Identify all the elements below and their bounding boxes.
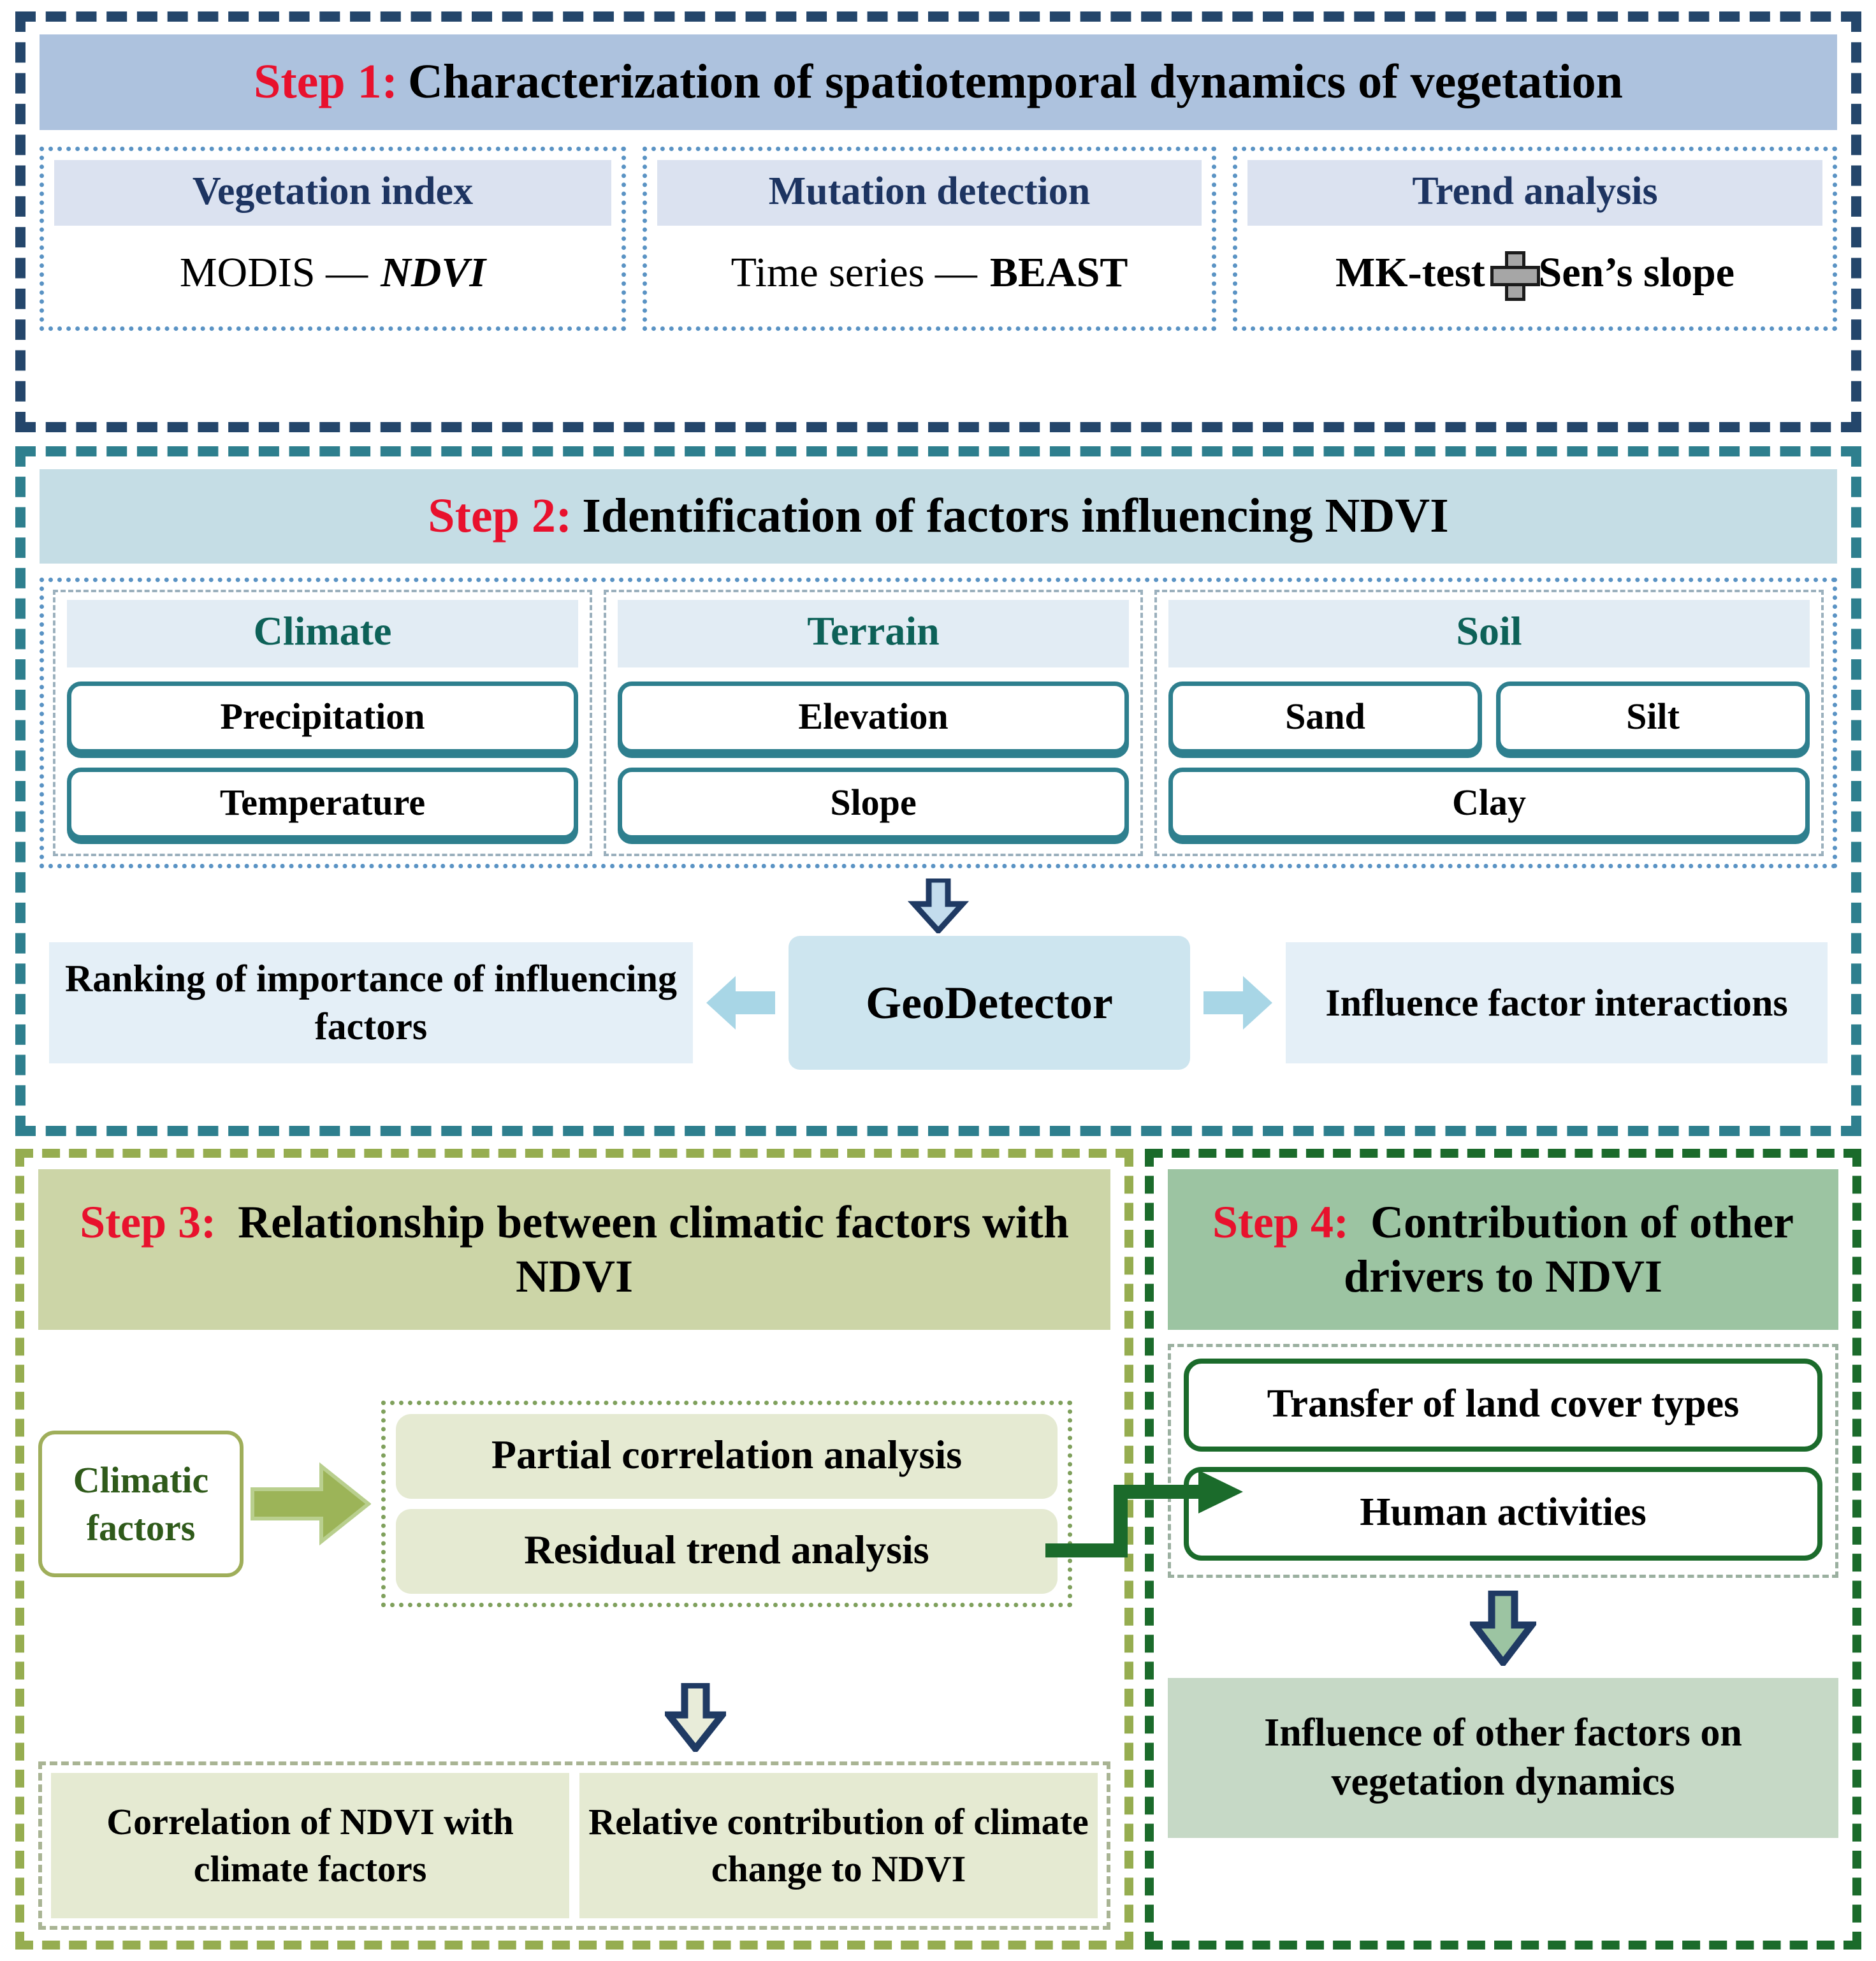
- step-3-method-row: Climatic factors Partial correlation ana…: [38, 1341, 1110, 1666]
- vegetation-index-prefix: MODIS —: [180, 249, 368, 297]
- step-1-column-trend-analysis: Trend analysis MK-test Sen’s slope: [1233, 147, 1837, 331]
- down-arrow-icon-to-geodetector: [908, 878, 969, 933]
- soil-row-2: Clay: [1168, 754, 1810, 840]
- ranking-of-importance-box: Ranking of importance of influencing fac…: [49, 942, 693, 1063]
- trend-analysis-body: MK-test Sen’s slope: [1247, 226, 1822, 315]
- step-1-panel: Step 1: Characterization of spatiotempor…: [15, 11, 1861, 432]
- right-arrow-icon: [1190, 965, 1286, 1041]
- step-2-label: Step 2:: [428, 489, 572, 543]
- step-1-title: Characterization of spatiotemporal dynam…: [408, 55, 1623, 109]
- step-2-title: Identification of factors influencing ND…: [582, 489, 1449, 543]
- step-4-down-arrow-wrap: [1168, 1591, 1838, 1669]
- vegetation-index-header: Vegetation index: [54, 160, 611, 226]
- step-1-column-mutation-detection: Mutation detection Time series — BEAST: [643, 147, 1216, 331]
- terrain-header: Terrain: [618, 600, 1129, 667]
- method-partial-correlation-analysis[interactable]: Partial correlation analysis: [396, 1414, 1058, 1499]
- factor-silt[interactable]: Silt: [1496, 682, 1810, 754]
- climate-row-2: Temperature: [67, 754, 578, 840]
- trend-analysis-header: Trend analysis: [1247, 160, 1822, 226]
- soil-header: Soil: [1168, 600, 1810, 667]
- climate-header: Climate: [67, 600, 578, 667]
- vegetation-index-emphasis: NDVI: [381, 249, 486, 297]
- terrain-row-1: Elevation: [618, 667, 1129, 754]
- result-influence-other-factors: Influence of other factors on vegetation…: [1168, 1678, 1838, 1838]
- factor-elevation[interactable]: Elevation: [618, 682, 1129, 754]
- geodetector-row: Ranking of importance of influencing fac…: [40, 936, 1837, 1070]
- factor-clay[interactable]: Clay: [1168, 768, 1810, 840]
- right-arrow-icon-climatic: [244, 1456, 377, 1552]
- step-1-label: Step 1:: [254, 55, 398, 109]
- down-arrow-icon-step3: [665, 1683, 726, 1755]
- result-relative-contribution-climate: Relative contribution of climate change …: [579, 1773, 1098, 1918]
- factor-temperature[interactable]: Temperature: [67, 768, 578, 840]
- step-1-column-vegetation-index: Vegetation index MODIS — NDVI: [40, 147, 626, 331]
- result-correlation-ndvi-climate: Correlation of NDVI with climate factors: [51, 1773, 569, 1918]
- plus-icon: [1494, 255, 1530, 291]
- factor-precipitation[interactable]: Precipitation: [67, 682, 578, 754]
- step-3-results-group: Correlation of NDVI with climate factors…: [38, 1761, 1110, 1930]
- step-4-panel: Step 4: Contribution of other drivers to…: [1145, 1149, 1861, 1950]
- left-arrow-icon: [693, 965, 789, 1041]
- mutation-detection-prefix: Time series —: [731, 249, 977, 297]
- factor-slope[interactable]: Slope: [618, 768, 1129, 840]
- climate-row-1: Precipitation: [67, 667, 578, 754]
- influence-factor-interactions-box: Influence factor interactions: [1286, 942, 1828, 1063]
- step-4-banner: Step 4: Contribution of other drivers to…: [1168, 1169, 1838, 1330]
- factor-group-climate: Climate Precipitation Temperature: [53, 590, 592, 856]
- down-arrow-icon-step4: [1470, 1591, 1536, 1669]
- geodetector-box[interactable]: GeoDetector: [789, 936, 1190, 1070]
- step-4-drivers-group: Transfer of land cover types Human activ…: [1168, 1344, 1838, 1578]
- climatic-factors-box[interactable]: Climatic factors: [38, 1431, 244, 1578]
- step-3-title: Relationship between climatic factors wi…: [238, 1197, 1069, 1302]
- step-1-columns: Vegetation index MODIS — NDVI Mutation d…: [40, 147, 1837, 331]
- step-3-panel: Step 3: Relationship between climatic fa…: [15, 1149, 1133, 1950]
- trend-analysis-prefix: MK-test: [1335, 249, 1485, 297]
- terrain-row-2: Slope: [618, 754, 1129, 840]
- step-2-banner: Step 2: Identification of factors influe…: [40, 469, 1837, 564]
- vegetation-index-body: MODIS — NDVI: [54, 226, 611, 315]
- step-2-panel: Step 2: Identification of factors influe…: [15, 446, 1861, 1136]
- method-residual-trend-analysis[interactable]: Residual trend analysis: [396, 1509, 1058, 1594]
- factor-group-soil: Soil Sand Silt Clay: [1154, 590, 1824, 856]
- step-3-banner: Step 3: Relationship between climatic fa…: [38, 1169, 1110, 1330]
- flowchart-diagram: Step 1: Characterization of spatiotempor…: [0, 0, 1876, 1961]
- step-1-banner: Step 1: Characterization of spatiotempor…: [40, 34, 1837, 130]
- factor-sand[interactable]: Sand: [1168, 682, 1482, 754]
- mutation-detection-body: Time series — BEAST: [657, 226, 1202, 315]
- soil-row-1: Sand Silt: [1168, 667, 1810, 754]
- factor-group-terrain: Terrain Elevation Slope: [604, 590, 1143, 856]
- step-3-down-arrow-wrap: [280, 1683, 1110, 1755]
- mutation-detection-header: Mutation detection: [657, 160, 1202, 226]
- driver-transfer-of-land-cover-types[interactable]: Transfer of land cover types: [1184, 1359, 1822, 1452]
- driver-human-activities[interactable]: Human activities: [1184, 1467, 1822, 1560]
- mutation-detection-emphasis: BEAST: [990, 249, 1128, 297]
- step-3-label: Step 3:: [80, 1197, 216, 1248]
- step-2-factor-groups: Climate Precipitation Temperature Terrai…: [40, 578, 1837, 868]
- trend-analysis-emphasis: Sen’s slope: [1539, 249, 1734, 297]
- step-3-methods-group: Partial correlation analysis Residual tr…: [381, 1401, 1072, 1607]
- step-4-title: Contribution of other drivers to NDVI: [1344, 1197, 1794, 1302]
- step-4-label: Step 4:: [1212, 1197, 1349, 1248]
